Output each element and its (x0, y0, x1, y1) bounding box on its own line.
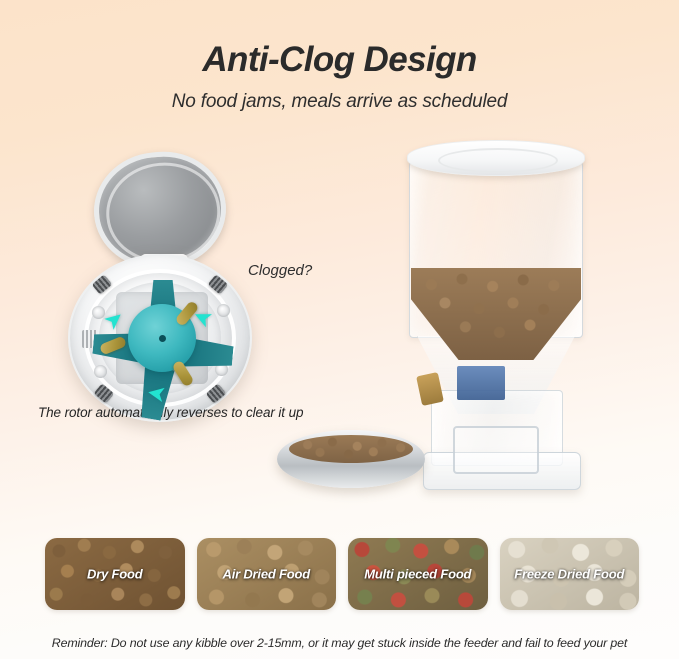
bowl-kibble (289, 435, 413, 463)
food-card-freeze-dried: Freeze Dried Food (500, 538, 640, 610)
food-card-label: Air Dried Food (197, 567, 337, 582)
clogged-label: Clogged? (248, 262, 312, 279)
page-title: Anti-Clog Design (0, 42, 679, 79)
page-subtitle: No food jams, meals arrive as scheduled (0, 91, 679, 113)
food-card-label: Freeze Dried Food (500, 567, 640, 582)
feeder-base-slot (453, 426, 539, 474)
food-card-label: Multi pieced Food (348, 567, 488, 582)
rotor-caption: The rotor automatically reverses to clea… (38, 405, 338, 420)
housing-screw-3 (94, 365, 107, 378)
pet-feeder-product (395, 140, 655, 505)
reminder-text: Reminder: Do not use any kibble over 2-1… (0, 636, 679, 650)
rotor-illustration: ➤ ➤ ➤ Clogged? The rotor automatically r… (36, 150, 336, 440)
feeder-internal-module (457, 366, 505, 400)
hero-header: Anti-Clog Design No food jams, meals arr… (0, 0, 679, 113)
food-type-card-list: Dry Food Air Dried Food Multi pieced Foo… (45, 538, 639, 610)
housing-screw-2 (217, 304, 230, 317)
rotor-housing: ➤ ➤ ➤ (68, 254, 252, 422)
food-card-air-dried: Air Dried Food (197, 538, 337, 610)
feeder-top-lid (407, 140, 585, 176)
food-card-dry: Dry Food (45, 538, 185, 610)
reverse-rotation-arrow-3: ➤ (146, 383, 166, 406)
stainless-food-bowl (277, 430, 425, 488)
food-card-multi-pieced: Multi pieced Food (348, 538, 488, 610)
food-card-label: Dry Food (45, 567, 185, 582)
